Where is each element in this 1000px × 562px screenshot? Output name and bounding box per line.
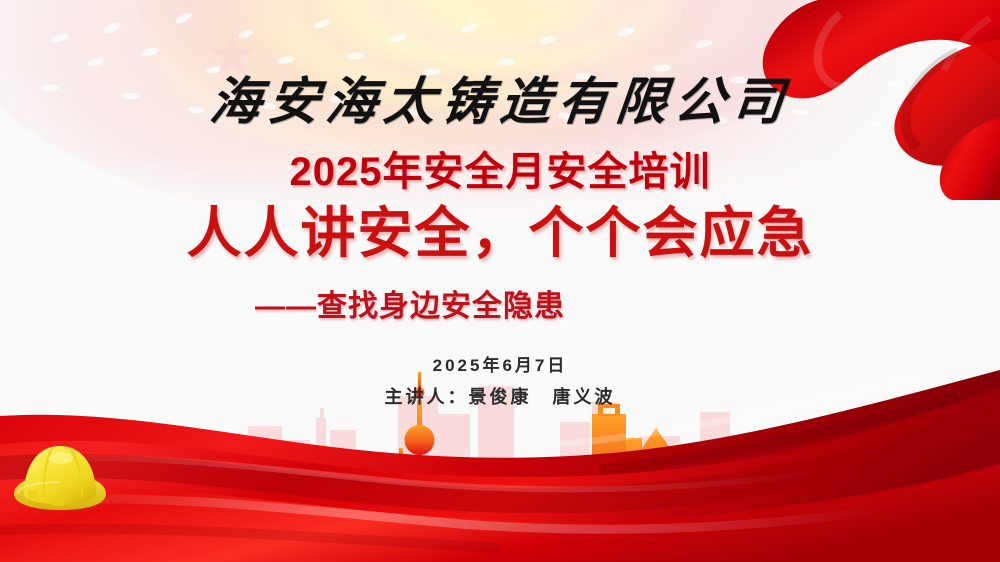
presentation-title-slide: 海安海太铸造有限公司 2025年安全月安全培训 人人讲安全，个个会应急 ——查找… (0, 0, 1000, 562)
presentation-date: 2025年6月7日 (0, 357, 1000, 374)
training-title: 2025年安全月安全培训 (0, 152, 1000, 192)
slide-text-content: 海安海太铸造有限公司 2025年安全月安全培训 人人讲安全，个个会应急 ——查找… (0, 0, 1000, 562)
company-name: 海安海太铸造有限公司 (0, 78, 1000, 129)
main-slogan: 人人讲安全，个个会应急 (0, 206, 1000, 261)
presenter-names: 主讲人：景俊康 唐义波 (0, 388, 1000, 406)
slogan-subtitle: ——查找身边安全隐患 (0, 292, 1000, 322)
